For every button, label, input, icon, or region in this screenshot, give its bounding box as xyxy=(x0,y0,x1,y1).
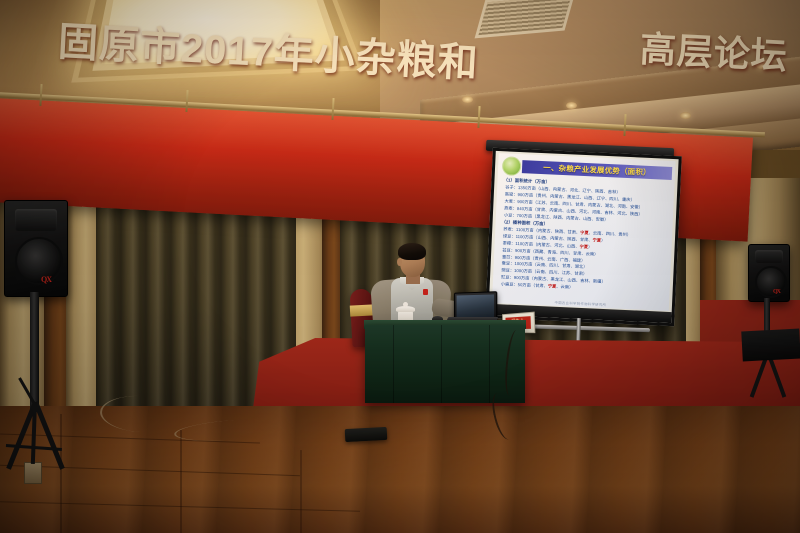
slide-row-tail: ） xyxy=(594,251,598,256)
pa-brand-logo: QX xyxy=(41,275,51,284)
downlight-icon xyxy=(462,96,473,103)
slide-row-tail: ） xyxy=(601,279,605,284)
slide-row-tail: ） xyxy=(581,257,585,262)
slide-row-tail: ） xyxy=(616,190,620,195)
slide-row-tail: ） xyxy=(639,204,643,209)
downlight-icon xyxy=(566,102,577,109)
institute-logo-icon xyxy=(502,156,522,176)
teacup-knob xyxy=(403,302,408,307)
speaker-stand-pole xyxy=(30,292,39,412)
wall-outlet xyxy=(24,462,42,484)
presentation-slide: 一、杂粮产业发展优势（面积） （1）面积统计（万亩）谷子：1350万亩（山西、内… xyxy=(492,153,676,311)
speaker-horn-icon xyxy=(755,250,783,263)
slide-row-tail: ） xyxy=(638,211,642,216)
slide-row-tail: ） xyxy=(583,264,587,269)
slide-row-tail: ） xyxy=(583,271,587,276)
conference-room-photo: 固原市2017年小杂粮和 高层论坛 一、杂粮产业发展优势（面积） （1）面积统计… xyxy=(0,0,800,533)
slide-row-tail: ） xyxy=(601,238,605,243)
slide-row-tail: ） xyxy=(630,197,634,202)
floor-seam xyxy=(300,450,302,533)
slide-row-tail: ） xyxy=(604,217,608,222)
slide-title: 一、杂粮产业发展优势（面积） xyxy=(522,160,672,180)
table-fold xyxy=(441,325,442,403)
bag-on-stage xyxy=(345,427,388,442)
slide-row-tail: 、云南、四川、贵州） xyxy=(589,230,632,237)
table-fold xyxy=(489,325,490,403)
floor-seam xyxy=(180,430,182,533)
chair-gold-band xyxy=(350,304,375,316)
pa-speaker-right: QX xyxy=(748,244,790,302)
speaker-woofer-icon xyxy=(755,266,787,298)
slide-row-highlight: 宁夏 xyxy=(579,244,588,249)
floor-seam xyxy=(60,414,62,533)
slide-row-highlight: 宁夏 xyxy=(548,283,557,288)
slide-row-highlight: 宁夏 xyxy=(580,230,589,235)
presenter-badge xyxy=(423,289,428,295)
pa-brand-logo: QX xyxy=(773,289,780,295)
table-skirt xyxy=(365,325,525,403)
laptop-display-glow xyxy=(457,294,495,318)
pa-speaker-left: QX xyxy=(4,200,68,297)
slide-body: （1）面积统计（万亩）谷子：1350万亩（山西、内蒙古、河北、辽宁、陕西、吉林）… xyxy=(498,176,670,304)
banner-text-right: 高层论坛 xyxy=(639,20,790,80)
table-fold xyxy=(393,325,394,403)
speaker-woofer-icon xyxy=(15,237,63,285)
slide-row-tail: ） xyxy=(588,244,592,249)
presenter-ear xyxy=(397,258,402,266)
av-equipment xyxy=(741,329,800,362)
presenter-hair xyxy=(398,243,426,260)
slide-row-tail: 、云南） xyxy=(556,284,573,290)
projection-screen: 一、杂粮产业发展优势（面积） （1）面积统计（万亩）谷子：1350万亩（山西、内… xyxy=(485,148,682,326)
downlight-icon xyxy=(680,112,691,119)
slide-row-text: 小扁豆：50万亩（甘肃、 xyxy=(501,281,548,288)
speaker-horn-icon xyxy=(15,209,57,231)
